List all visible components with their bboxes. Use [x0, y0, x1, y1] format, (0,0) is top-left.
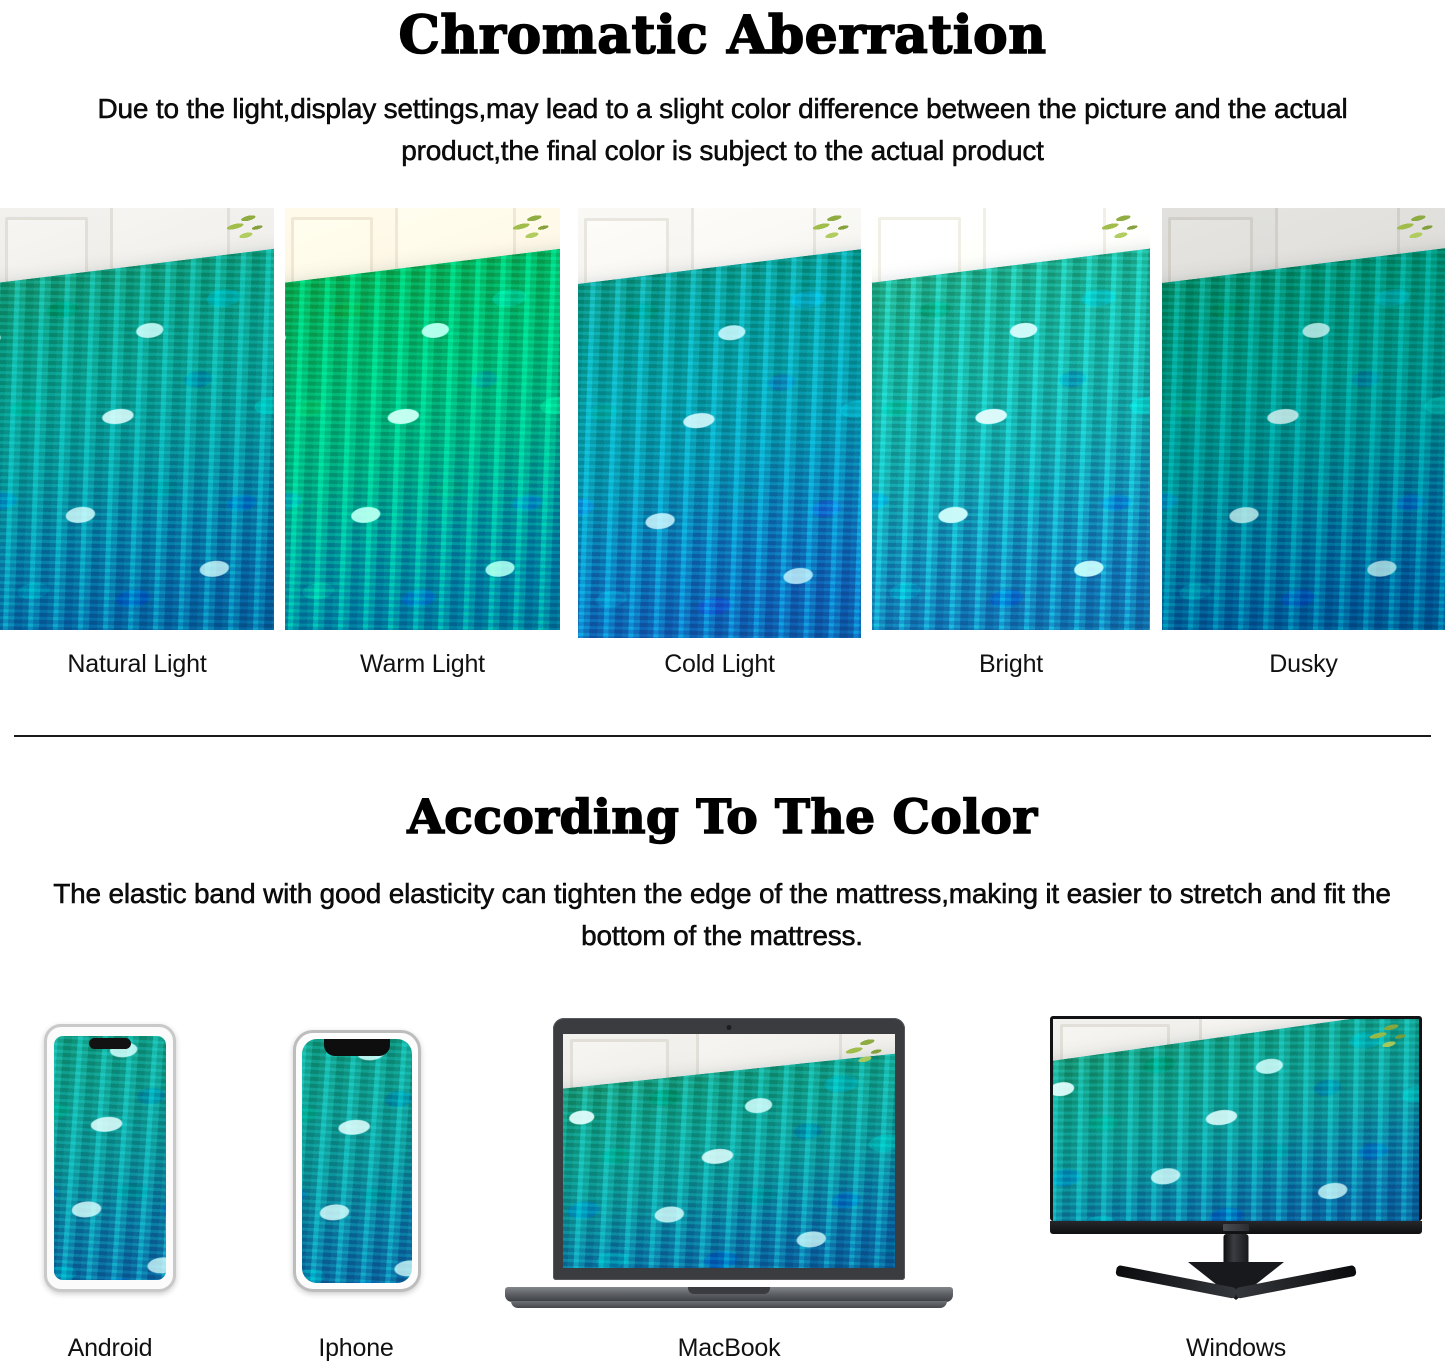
macbook-foot — [511, 1301, 947, 1308]
caption-bright: Bright — [872, 650, 1150, 679]
iphone-screen — [302, 1039, 412, 1283]
windows-monitor-mockup[interactable] — [1050, 1016, 1422, 1312]
caption-windows: Windows — [1050, 1334, 1422, 1363]
macbook-lid-notch — [688, 1287, 770, 1294]
iphone-mockup[interactable] — [293, 1030, 421, 1292]
monitor-screen — [1053, 1019, 1419, 1221]
caption-warm-light: Warm Light — [285, 650, 560, 679]
throw-blanket — [0, 247, 274, 630]
according-to-color-section: According To The Color — [0, 790, 1445, 846]
throw-blanket — [1162, 246, 1445, 630]
photo-panel-dusky[interactable] — [1162, 208, 1445, 630]
android-phone-mockup[interactable] — [44, 1024, 176, 1292]
chromatic-aberration-description: Due to the light,display settings,may le… — [53, 88, 1393, 172]
photo-panel-warm-light[interactable] — [285, 208, 560, 630]
caption-iphone: Iphone — [288, 1334, 424, 1363]
macbook-lid — [553, 1018, 905, 1280]
throw-blanket — [578, 248, 861, 638]
android-screen — [54, 1036, 166, 1280]
webcam-icon — [727, 1025, 732, 1030]
monitor-chin — [1050, 1221, 1422, 1234]
screen-artwork — [302, 1039, 412, 1283]
caption-natural-light: Natural Light — [0, 650, 274, 679]
photo-panel-natural-light[interactable] — [0, 208, 274, 630]
room-scene — [1162, 208, 1445, 630]
macbook-base — [505, 1287, 953, 1302]
monitor-bezel — [1050, 1016, 1422, 1221]
photo-panel-bright[interactable] — [872, 208, 1150, 630]
room-scene — [285, 208, 560, 630]
device-caption-row: Android Iphone MacBook Windows — [0, 1334, 1445, 1371]
throw-blanket — [872, 247, 1150, 630]
throw-blanket — [302, 1039, 412, 1283]
macbook-screen — [563, 1034, 895, 1268]
photo-panel-cold-light[interactable] — [578, 208, 861, 638]
caption-macbook: MacBook — [505, 1334, 953, 1363]
room-scene — [872, 208, 1150, 630]
throw-blanket — [285, 247, 560, 630]
android-camera-notch-icon — [89, 1038, 131, 1049]
caption-android: Android — [42, 1334, 178, 1363]
caption-cold-light: Cold Light — [578, 650, 861, 679]
screen-artwork — [54, 1036, 166, 1280]
macbook-mockup[interactable] — [505, 1018, 953, 1310]
caption-dusky: Dusky — [1162, 650, 1445, 679]
throw-blanket — [54, 1036, 166, 1280]
throw-blanket — [563, 1052, 895, 1268]
page-title: Chromatic Aberration — [30, 4, 1415, 66]
monitor-brand-logo — [1223, 1224, 1249, 1231]
section-divider — [14, 735, 1431, 737]
lighting-caption-row: Natural Light Warm Light Cold Light Brig… — [0, 650, 1445, 690]
device-display-row — [0, 1010, 1445, 1310]
according-to-color-description: The elastic band with good elasticity ca… — [52, 873, 1392, 957]
lighting-comparison-photo-strip — [0, 208, 1445, 638]
room-scene — [578, 208, 861, 638]
chromatic-aberration-section: Chromatic Aberration Due to the light,di… — [0, 0, 1445, 172]
section-heading-according-to-color: According To The Color — [0, 790, 1445, 846]
iphone-notch-icon — [324, 1039, 390, 1056]
room-scene — [0, 208, 274, 630]
